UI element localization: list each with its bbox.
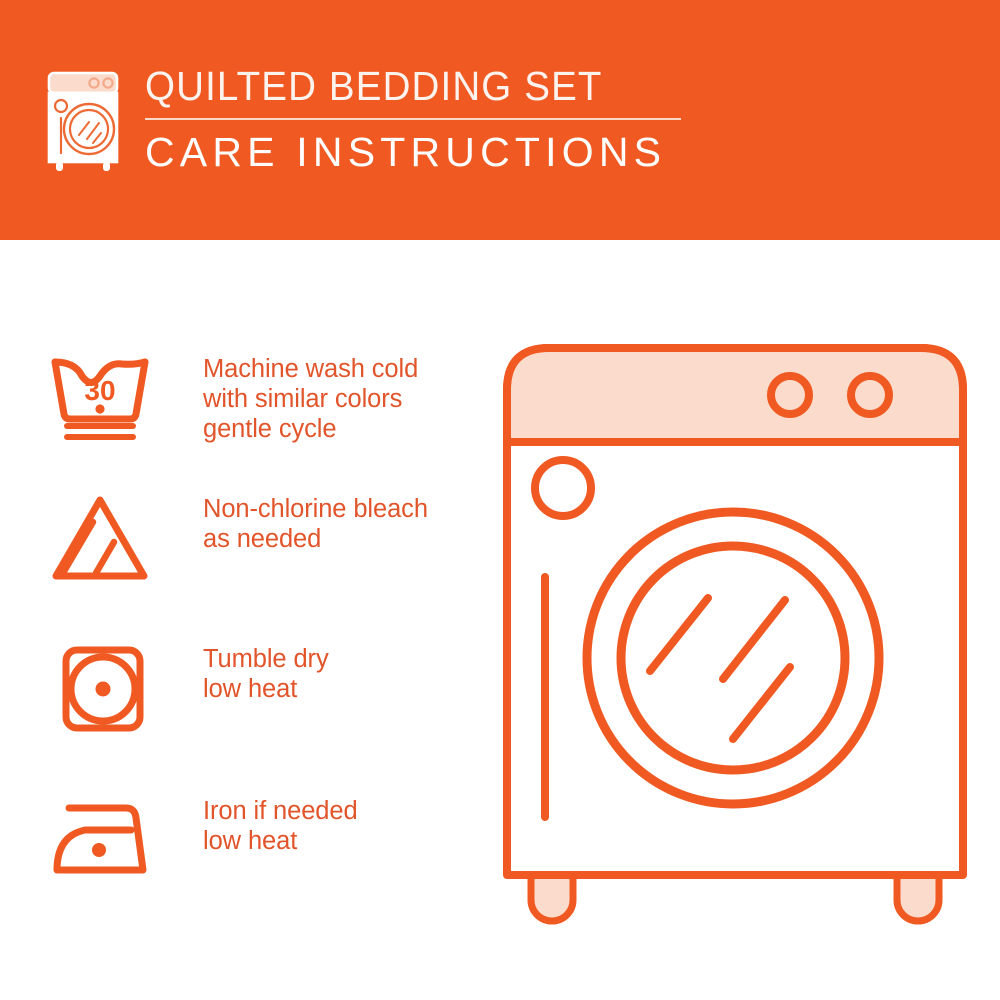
care-item-wash: 30 Machine wash cold with similar colors… [45,350,475,450]
wash-tub-icon: 30 [47,352,153,448]
care-item-bleach-label: Non-chlorine bleach as needed [203,490,428,554]
care-item-iron: Iron if needed low heat [45,792,475,892]
care-item-tumble-dry: Tumble dry low heat [45,640,475,740]
bleach-triangle-icon [47,492,153,588]
title-divider [145,118,681,120]
iron-symbol [45,792,155,892]
tumble-dry-icon [47,642,153,738]
care-line: gentle cycle [203,414,418,444]
care-item-tumble-dry-label: Tumble dry low heat [203,640,329,704]
header-banner: QUILTED BEDDING SET CARE INSTRUCTIONS [0,0,1000,240]
care-item-iron-label: Iron if needed low heat [203,792,358,856]
header-content: QUILTED BEDDING SET CARE INSTRUCTIONS [45,63,681,175]
care-instructions-list: 30 Machine wash cold with similar colors… [0,240,490,1000]
care-line: Tumble dry [203,644,329,674]
wash-temperature-label: 30 [84,375,115,406]
page-title: QUILTED BEDDING SET [145,63,649,109]
header-title-block: QUILTED BEDDING SET CARE INSTRUCTIONS [145,63,681,175]
page-subtitle: CARE INSTRUCTIONS [145,129,681,175]
care-line: as needed [203,524,428,554]
care-item-bleach: Non-chlorine bleach as needed [45,490,475,590]
wash-tub-symbol: 30 [45,350,155,450]
washing-machine-illustration [495,330,975,950]
bleach-triangle-symbol [45,490,155,590]
iron-icon [47,794,153,890]
tumble-dry-symbol [45,640,155,740]
care-line: with similar colors [203,384,418,414]
care-line: low heat [203,826,358,856]
care-line: Machine wash cold [203,354,418,384]
care-line: low heat [203,674,329,704]
care-item-wash-label: Machine wash cold with similar colors ge… [203,350,418,444]
care-line: Iron if needed [203,796,358,826]
washing-machine-icon [45,69,121,174]
care-line: Non-chlorine bleach [203,494,428,524]
